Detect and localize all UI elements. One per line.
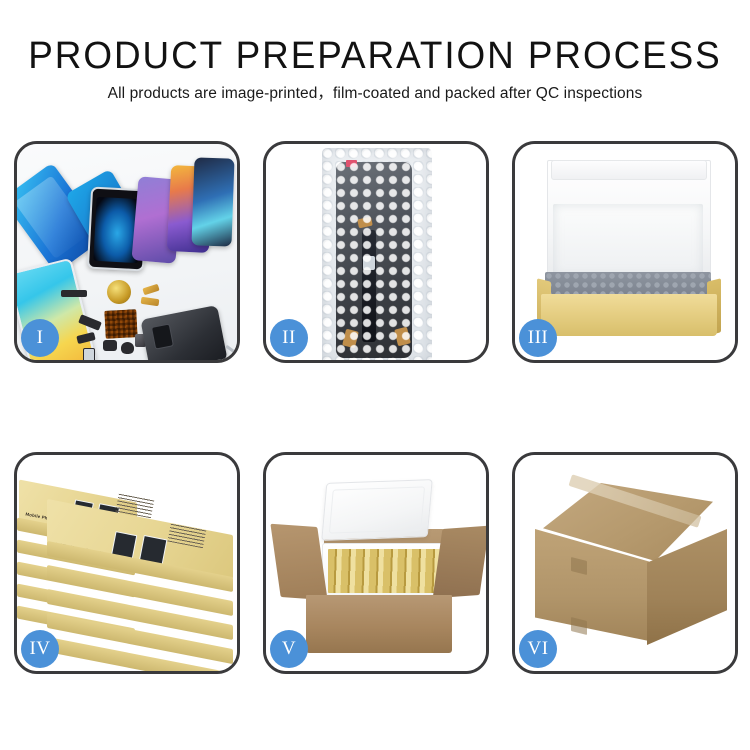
step-badge-3: III bbox=[519, 319, 557, 357]
camera-module-part bbox=[103, 340, 117, 351]
flex-cable-part-a bbox=[142, 284, 159, 296]
foam-cooler-lid bbox=[321, 479, 432, 541]
step-card-2: II bbox=[263, 141, 489, 363]
earpiece-mesh-part bbox=[61, 290, 87, 297]
step-badge-6: VI bbox=[519, 630, 557, 668]
step-card-5: V bbox=[263, 452, 489, 674]
speaker-part bbox=[121, 342, 134, 354]
step-card-3: III bbox=[512, 141, 738, 363]
red-tape-marker bbox=[346, 160, 357, 167]
yellow-boxes-inside bbox=[328, 549, 442, 593]
step-badge-5: V bbox=[270, 630, 308, 668]
screw-part-b bbox=[229, 354, 237, 360]
phone-screen-dark-wave bbox=[191, 157, 234, 246]
box-lid-flap bbox=[551, 160, 707, 180]
box-front-panel-yellow bbox=[541, 294, 717, 336]
carton-handle-tab-lower bbox=[571, 617, 587, 635]
step-card-4: Mobile Phone Spare Parts Mobile Phone Sp… bbox=[14, 452, 240, 674]
sim-tray-part bbox=[83, 348, 95, 360]
step-card-1: I bbox=[14, 141, 240, 363]
carton-front-wall bbox=[306, 595, 452, 653]
screen-flex-cable bbox=[362, 230, 376, 342]
flex-cable-part-b bbox=[141, 297, 160, 306]
step-badge-4: IV bbox=[21, 630, 59, 668]
header: PRODUCT PREPARATION PROCESS All products… bbox=[0, 0, 750, 104]
product-preparation-infographic: PRODUCT PREPARATION PROCESS All products… bbox=[0, 0, 750, 750]
page-subtitle: All products are image-printed，film-coat… bbox=[0, 84, 750, 104]
screw-part-a bbox=[225, 345, 236, 354]
steps-grid: I II bbox=[14, 141, 736, 674]
carton-flap-left bbox=[270, 524, 327, 601]
foam-liner bbox=[553, 204, 703, 276]
step-card-6: VI bbox=[512, 452, 738, 674]
step-badge-2: II bbox=[270, 319, 308, 357]
step-badge-1: I bbox=[21, 319, 59, 357]
connector-grid-part bbox=[104, 309, 137, 339]
copper-coil-part bbox=[107, 280, 131, 304]
page-title: PRODUCT PREPARATION PROCESS bbox=[11, 34, 739, 78]
carton-flap-right bbox=[433, 526, 486, 599]
phone-back-housing bbox=[140, 305, 227, 360]
